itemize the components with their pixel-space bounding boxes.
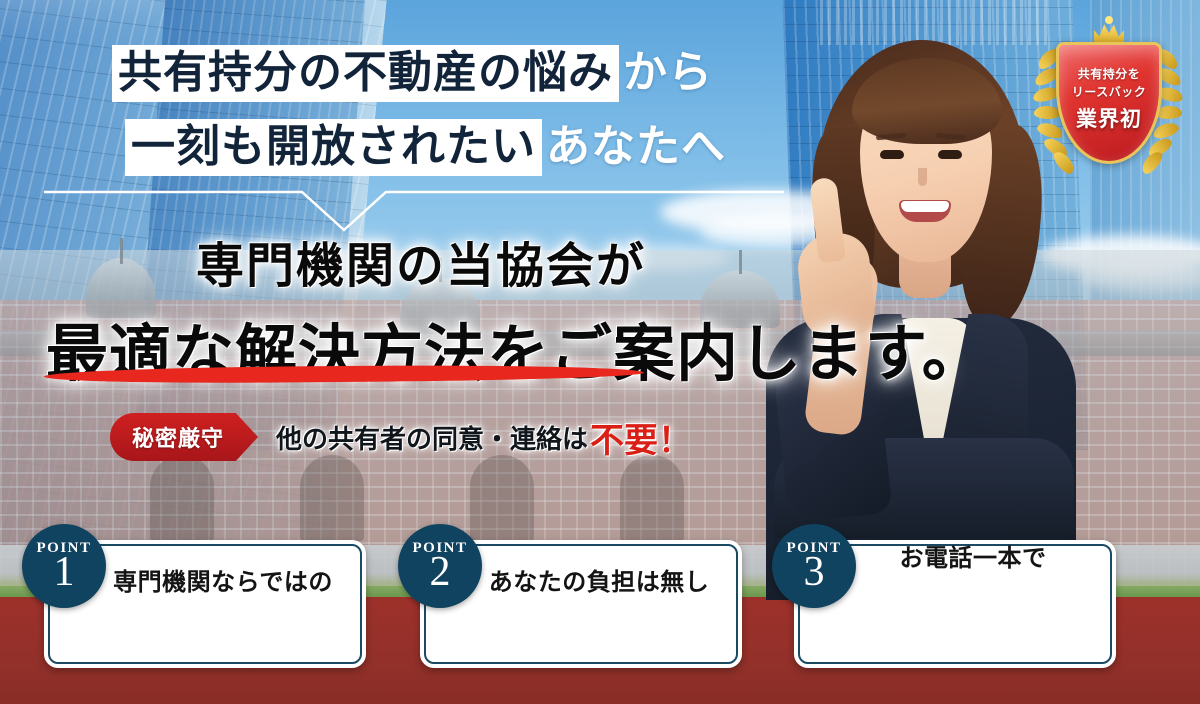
sub-headline-1-boxed: 共有持分の不動産の悩み [112,45,619,102]
sub-headline-line-2: 一刻も開放されたいあなたへ [125,110,726,174]
point-card-3[interactable]: お電話一本で トラブル無く完了 POINT 3 [794,540,1116,668]
eye-left [880,150,904,159]
badge-line2: リースバック [1072,83,1146,100]
nose [918,168,927,186]
card-1-line-2: 3つの解決方法 [108,599,338,647]
card-2-line-2-text: ご利用は無料 [497,609,701,645]
point-number-1: 1 [54,553,75,593]
sub-headline-1-plain: から [623,48,713,97]
hero-banner: 共有持分を リースバック 業界初 共有持分の不動産の悩みから 一刻も開放されたい… [0,0,1200,704]
ribbon-message: 他の共有者の同意・連絡は不要！ [258,413,706,461]
eye-right [938,150,962,159]
teeth [901,201,949,212]
station-spire [120,238,123,264]
card-2-line-1: あなたの負担は無し [489,562,710,597]
card-1-line-2-text: 3つの解決方法 [112,609,334,645]
sub-headline-2-boxed: 一刻も開放されたい [125,119,542,176]
point-badge-3: POINT 3 [772,524,856,608]
card-1-line-1: 専門機関ならではの [113,562,333,597]
sub-headline-line-1: 共有持分の不動産の悩みから [112,36,713,100]
crown-ball-icon [1105,16,1113,24]
main-headline-line-1: 専門機関の当協会が [196,226,646,296]
card-3-line-1: お電話一本で [900,538,1047,573]
ribbon-message-text: 他の共有者の同意・連絡は [276,419,588,456]
card-3-line-2: トラブル無く完了 [836,575,1110,671]
card-3-line-2-text: トラブル無く完了 [840,585,1078,669]
badge-line1: 共有持分を [1078,65,1141,82]
badge-line3: 業界初 [1076,103,1142,133]
station-spire [739,250,742,274]
point-number-2: 2 [430,553,451,593]
point-cards: 専門機関ならではの 3つの解決方法 POINT 1 あなたの負担は無し ご利用は… [0,516,1200,686]
industry-first-shield-badge: 共有持分を リースバック 業界初 [1032,22,1184,188]
point-card-2[interactable]: あなたの負担は無し ご利用は無料 POINT 2 [420,540,742,668]
point-number-3: 3 [804,553,825,593]
sub-headline-2-plain: あなたへ [546,122,726,171]
point-card-1[interactable]: 専門機関ならではの 3つの解決方法 POINT 1 [44,540,366,668]
smiling-mouth [899,200,951,222]
card-2-line-2: ご利用は無料 [493,599,705,647]
point-badge-1: POINT 1 [22,524,106,608]
point-badge-2: POINT 2 [398,524,482,608]
ribbon-emphasis: 不要！ [590,413,692,462]
ribbon-tag-label: 秘密厳守 [110,413,258,461]
confidentiality-ribbon: 秘密厳守 他の共有者の同意・連絡は不要！ [110,413,706,461]
